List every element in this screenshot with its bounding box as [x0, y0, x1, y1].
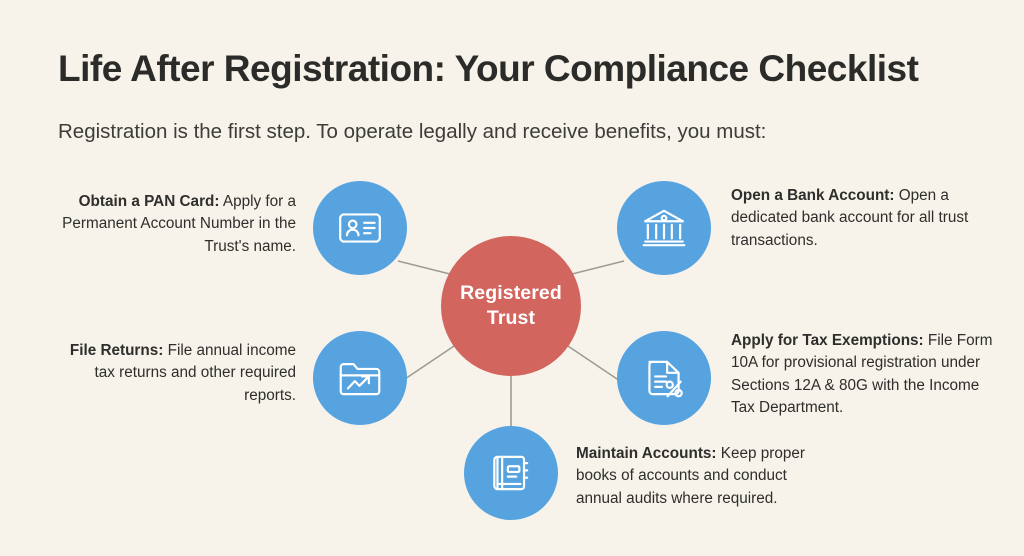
folder-chart-icon [335, 353, 385, 403]
node-tax-exemptions[interactable] [617, 331, 711, 425]
page-title: Life After Registration: Your Compliance… [58, 48, 918, 90]
infographic-canvas: Life After Registration: Your Compliance… [0, 0, 1024, 556]
caption-tax-exemptions: Apply for Tax Exemptions: File Form 10A … [731, 330, 1003, 420]
caption-heading: File Returns: [70, 342, 164, 359]
node-pan-card[interactable] [313, 181, 407, 275]
caption-heading: Open a Bank Account: [731, 187, 894, 204]
node-file-returns[interactable] [313, 331, 407, 425]
bank-icon [639, 203, 689, 253]
hub-registered-trust[interactable]: Registered Trust [441, 236, 581, 376]
caption-file-returns: File Returns: File annual income tax ret… [48, 340, 296, 407]
caption-heading: Apply for Tax Exemptions: [731, 332, 924, 349]
page-subtitle: Registration is the first step. To opera… [58, 120, 766, 144]
caption-maintain-accounts: Maintain Accounts: Keep proper books of … [576, 443, 828, 510]
tax-document-icon [639, 353, 689, 403]
ledger-book-icon [486, 448, 536, 498]
hub-label-line2: Trust [487, 306, 535, 331]
caption-heading: Maintain Accounts: [576, 445, 717, 462]
caption-bank-account: Open a Bank Account: Open a dedicated ba… [731, 185, 989, 252]
node-bank-account[interactable] [617, 181, 711, 275]
caption-heading: Obtain a PAN Card: [79, 193, 220, 210]
hub-label-line1: Registered [460, 281, 562, 306]
caption-pan-card: Obtain a PAN Card: Apply for a Permanent… [48, 191, 296, 258]
hub-and-spoke-diagram: Obtain a PAN Card: Apply for a Permanent… [0, 160, 1024, 556]
id-card-icon [335, 203, 385, 253]
node-maintain-accounts[interactable] [464, 426, 558, 520]
